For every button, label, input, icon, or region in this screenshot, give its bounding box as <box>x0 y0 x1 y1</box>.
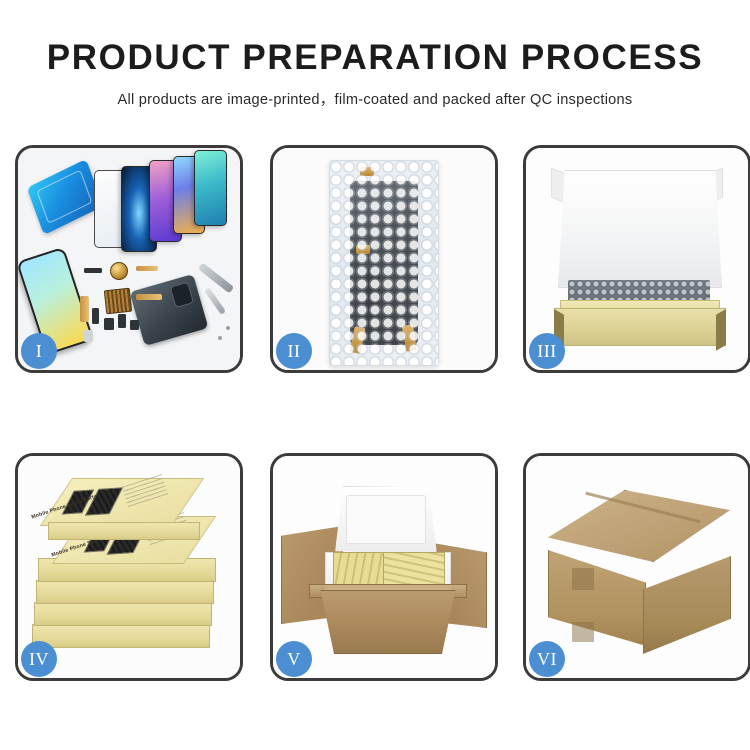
part-icon-5 <box>130 320 139 330</box>
flex-cable-icon-1 <box>136 266 158 271</box>
adhesive-tab-icon-1 <box>360 167 374 176</box>
phone-screen-icon-4 <box>194 150 227 226</box>
carton-handle-hole-icon-2 <box>572 622 594 642</box>
adhesive-tab-icon-2 <box>356 245 370 254</box>
speaker-module-icon <box>110 262 128 280</box>
bubble-wrap-bag-icon <box>329 160 439 366</box>
stacked-box-icon-4 <box>36 580 214 604</box>
screw-icon-1 <box>218 336 222 340</box>
sealed-carton-right-face-icon <box>643 556 731 654</box>
wrapped-screen-icon <box>350 181 418 345</box>
sealed-carton-top-icon <box>548 490 730 562</box>
step-badge-2: II <box>276 333 312 369</box>
screwdriver-icon <box>204 287 226 315</box>
page-subtitle: All products are image-printed，film-coat… <box>0 88 750 109</box>
stacked-box-icon-1 <box>48 522 200 540</box>
step-panel-1[interactable]: I <box>15 145 243 373</box>
screen-protector-film-icon <box>27 159 104 235</box>
box-lid-icon <box>558 170 722 288</box>
flex-cable-icon-3 <box>80 296 89 322</box>
step-panel-2[interactable]: II <box>270 145 498 373</box>
step-badge-6: VI <box>529 641 565 677</box>
yellow-inner-box-icon <box>554 308 726 346</box>
packed-boxes-icon-2 <box>383 552 445 586</box>
step-6-illustration <box>526 456 748 678</box>
step-2-illustration <box>273 148 495 370</box>
process-step-grid: I II III <box>15 145 750 673</box>
step-badge-4: IV <box>21 641 57 677</box>
screw-icon-2 <box>226 326 230 330</box>
step-1-illustration <box>18 148 240 370</box>
step-panel-6[interactable]: VI <box>523 453 750 681</box>
part-icon-2 <box>92 308 99 324</box>
flex-cable-icon-2 <box>136 294 162 300</box>
carton-handle-hole-icon-1 <box>572 568 594 590</box>
part-icon-3 <box>104 318 114 330</box>
part-icon-1 <box>84 268 102 273</box>
phone-backplate-icon <box>130 274 209 346</box>
stacked-box-icon-5 <box>34 602 212 626</box>
foam-lid-icon <box>335 486 437 554</box>
part-icon-6 <box>84 330 93 342</box>
part-icon-4 <box>118 314 126 328</box>
step-badge-3: III <box>529 333 565 369</box>
connector-grid-icon <box>104 288 132 315</box>
tweezers-icon <box>198 263 234 294</box>
step-5-illustration <box>273 456 495 678</box>
stacked-box-icon-6 <box>32 624 210 648</box>
carton-body-icon <box>313 590 463 654</box>
step-badge-5: V <box>276 641 312 677</box>
sealed-carton-left-face-icon <box>548 550 646 646</box>
step-3-illustration <box>526 148 748 370</box>
step-panel-5[interactable]: V <box>270 453 498 681</box>
step-panel-3[interactable]: III <box>523 145 750 373</box>
step-badge-1: I <box>21 333 57 369</box>
step-4-illustration: Mobile Phone Spare Parts Mobile Phone Sp… <box>18 456 240 678</box>
step-panel-4[interactable]: Mobile Phone Spare Parts Mobile Phone Sp… <box>15 453 243 681</box>
page-header: PRODUCT PREPARATION PROCESS All products… <box>0 0 750 130</box>
page-title: PRODUCT PREPARATION PROCESS <box>0 38 750 78</box>
